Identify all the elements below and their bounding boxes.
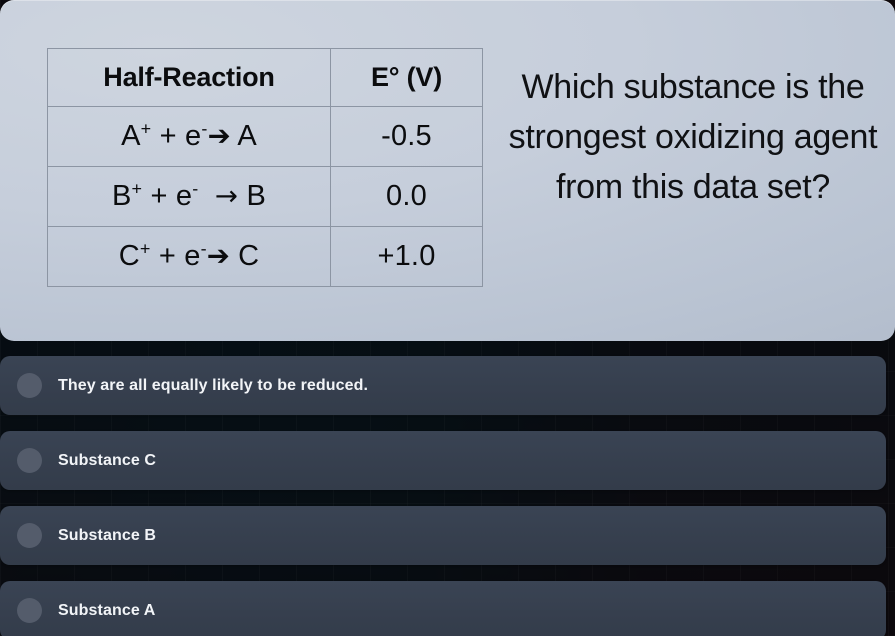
reaction-arrow-icon: ➔: [207, 240, 230, 272]
table-header-row: Half-Reaction E° (V): [48, 49, 483, 107]
reaction-arrow-icon: ➔: [208, 120, 231, 152]
table-row: B+ + e- → B 0.0: [48, 167, 483, 227]
radio-button-icon[interactable]: [17, 373, 42, 398]
answer-option-label: They are all equally likely to be reduce…: [58, 377, 368, 395]
table-row: C+ + e-➔ C +1.0: [48, 227, 483, 287]
answer-option-0[interactable]: They are all equally likely to be reduce…: [0, 356, 886, 415]
half-reaction-cell-c: C+ + e-➔ C: [48, 227, 331, 287]
product-species: C: [238, 240, 259, 272]
reactant-charge: +: [141, 118, 152, 138]
potential-cell-c: +1.0: [331, 227, 483, 287]
answer-option-3[interactable]: Substance A: [0, 581, 886, 636]
column-header-half-reaction: Half-Reaction: [48, 49, 331, 107]
potential-cell-b: 0.0: [331, 167, 483, 227]
answer-options-list: They are all equally likely to be reduce…: [0, 356, 895, 636]
radio-button-icon[interactable]: [17, 448, 42, 473]
answer-option-1[interactable]: Substance C: [0, 431, 886, 490]
electron-symbol: e: [185, 120, 201, 152]
half-reaction-table: Half-Reaction E° (V) A+ + e-➔ A -0.5 B+ …: [47, 48, 483, 287]
answer-option-label: Substance C: [58, 452, 156, 470]
reactant-species: B: [112, 180, 132, 212]
half-reaction-cell-b: B+ + e- → B: [48, 167, 331, 227]
reactant-charge: +: [132, 178, 143, 198]
reactant-species: C: [119, 240, 140, 272]
column-header-standard-potential: E° (V): [331, 49, 483, 107]
potential-cell-a: -0.5: [331, 107, 483, 167]
spacer: [230, 240, 238, 272]
plus-sign: +: [151, 240, 185, 272]
question-card-content: Half-Reaction E° (V) A+ + e-➔ A -0.5 B+ …: [0, 0, 895, 341]
electron-symbol: e: [176, 180, 192, 212]
question-card: Half-Reaction E° (V) A+ + e-➔ A -0.5 B+ …: [0, 0, 895, 341]
radio-button-icon[interactable]: [17, 523, 42, 548]
half-reaction-cell-a: A+ + e-➔ A: [48, 107, 331, 167]
answer-option-2[interactable]: Substance B: [0, 506, 886, 565]
reaction-arrow-icon: →: [215, 180, 238, 212]
product-species: B: [246, 180, 266, 212]
answer-option-label: Substance A: [58, 602, 155, 620]
quiz-screen: Half-Reaction E° (V) A+ + e-➔ A -0.5 B+ …: [0, 0, 895, 636]
table-row: A+ + e-➔ A -0.5: [48, 107, 483, 167]
product-species: A: [237, 120, 257, 152]
spacer: [198, 180, 215, 212]
question-prompt: Which substance is the strongest oxidizi…: [494, 63, 892, 213]
radio-button-icon[interactable]: [17, 598, 42, 623]
reactant-charge: +: [140, 238, 151, 258]
reactant-species: A: [121, 120, 141, 152]
plus-sign: +: [151, 120, 185, 152]
electron-symbol: e: [184, 240, 200, 272]
answer-option-label: Substance B: [58, 527, 156, 545]
plus-sign: +: [142, 180, 176, 212]
